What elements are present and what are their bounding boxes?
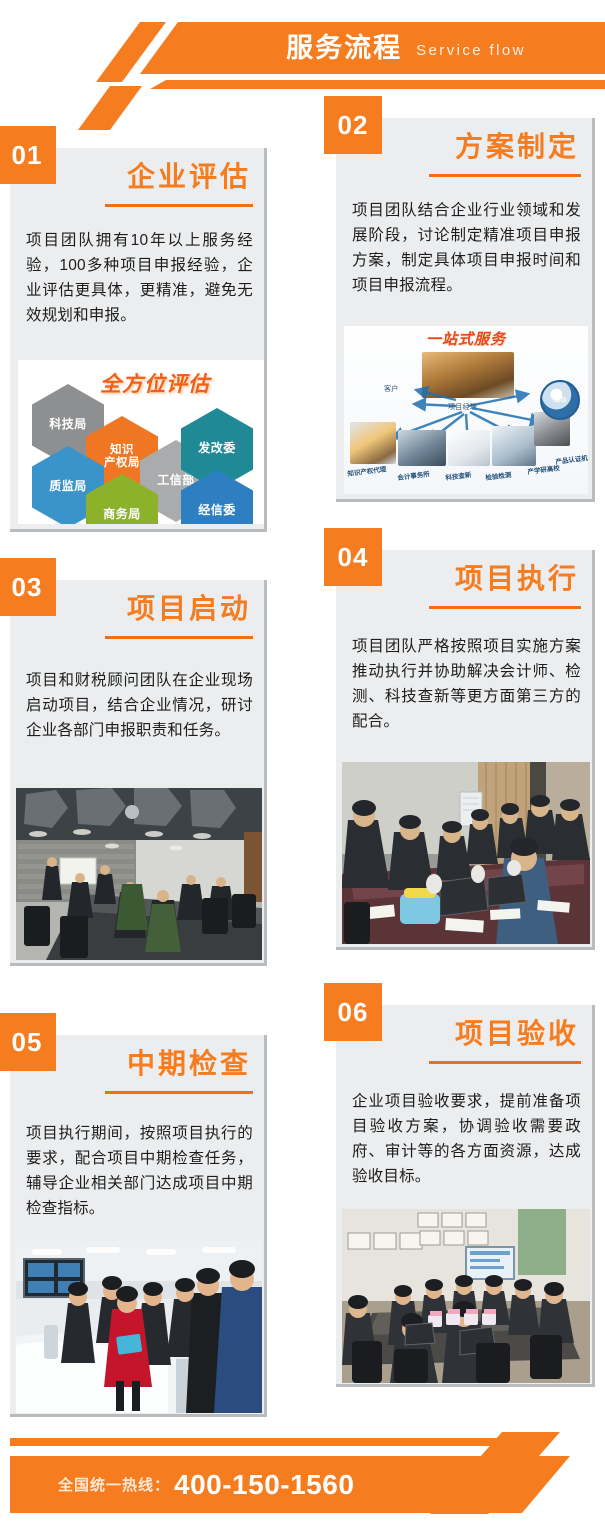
hotline-group: 全国统一热线： 400-150-1560 — [10, 1456, 530, 1513]
service-thumb-research — [448, 430, 490, 466]
title-underline — [429, 606, 581, 609]
title-underline — [105, 1091, 253, 1094]
step-card-03: 03 项目启动 项目和财税顾问团队在企业现场启动项目，结合企业情况，研讨企业各部… — [10, 580, 267, 966]
acceptance-meeting-photo — [342, 1209, 590, 1383]
service-certification-seal: ISO — [540, 380, 580, 420]
card-title: 项目执行 — [455, 564, 579, 595]
card-title: 项目启动 — [127, 594, 251, 625]
kickoff-meeting-photo — [16, 788, 262, 960]
step-number-badge: 01 — [0, 126, 56, 184]
assessment-hex-diagram: 全方位评估 科技局 知识 产权局 质监局 工信部 商务局 发改委 经信委 — [18, 360, 264, 524]
step-number-badge: 04 — [324, 528, 382, 586]
card-title: 中期检查 — [127, 1049, 251, 1080]
header-title-group: 服务流程 Service flow — [150, 22, 605, 74]
title-underline — [105, 204, 253, 207]
title-underline — [105, 636, 253, 639]
one-stop-service-diagram: 一站式服务 — [344, 326, 588, 494]
card-description: 项目团队拥有10年以上服务经验，100多种项目申报经验，企业评估更具体，更精准，… — [26, 228, 253, 328]
service-label-manager: 项目经理 — [448, 402, 477, 412]
footer-stripe — [10, 1438, 530, 1446]
title-underline — [429, 174, 581, 177]
service-thumb-ip — [350, 422, 396, 464]
page-header: 服务流程 Service flow — [0, 0, 605, 112]
step-number-badge: 02 — [324, 96, 382, 154]
card-description: 项目和财税顾问团队在企业现场启动项目，结合企业情况，研讨企业各部门申报职责和任务… — [26, 668, 253, 743]
step-card-02: 02 方案制定 项目团队结合企业行业领域和发展阶段，讨论制定精准项目申报方案，制… — [336, 118, 595, 502]
step-number-badge: 03 — [0, 558, 56, 616]
step-number-badge: 05 — [0, 1013, 56, 1071]
page-subtitle: Service flow — [416, 39, 526, 58]
card-title: 方案制定 — [455, 132, 579, 163]
hotline-number[interactable]: 400-150-1560 — [174, 1469, 354, 1501]
title-underline — [429, 1061, 581, 1064]
step-card-05: 05 中期检查 项目执行期间，按照项目执行的要求，配合项目中期检查任务，辅导企业… — [10, 1035, 267, 1417]
card-description: 企业项目验收要求，提前准备项目验收方案，协调验收需要政府、审计等的各方面资源，达… — [352, 1089, 581, 1189]
service-thumb-accounting — [398, 430, 446, 466]
card-description: 项目执行期间，按照项目执行的要求，配合项目中期检查任务，辅导企业相关部门达成项目… — [26, 1121, 253, 1221]
page-title: 服务流程 — [286, 35, 402, 62]
hotline-label: 全国统一热线： — [58, 1474, 170, 1495]
header-stripe — [150, 80, 605, 89]
card-title: 项目验收 — [455, 1019, 579, 1050]
header-slash-lower — [78, 86, 142, 130]
page-footer: 全国统一热线： 400-150-1560 — [0, 1434, 605, 1538]
step-number-badge: 06 — [324, 983, 382, 1041]
midterm-inspection-photo — [16, 1241, 262, 1413]
service-label-customer: 客户 — [384, 384, 399, 394]
step-card-04: 04 项目执行 项目团队严格按照项目实施方案推动执行并协助解决会计师、检测、科技… — [336, 550, 595, 950]
service-thumb-testing — [492, 426, 536, 466]
hex-diagram-title: 全方位评估 — [100, 368, 210, 398]
step-card-06: 06 项目验收 企业项目验收要求，提前准备项目验收方案，协调验收需要政府、审计等… — [336, 1005, 595, 1387]
step-card-01: 01 企业评估 项目团队拥有10年以上服务经验，100多种项目申报经验，企业评估… — [10, 148, 267, 532]
card-title: 企业评估 — [127, 162, 251, 193]
card-description: 项目团队结合企业行业领域和发展阶段，讨论制定精准项目申报方案，制定具体项目申报时… — [352, 198, 581, 298]
project-execution-photo — [342, 762, 590, 944]
card-description: 项目团队严格按照项目实施方案推动执行并协助解决会计师、检测、科技查新等更方面第三… — [352, 634, 581, 734]
